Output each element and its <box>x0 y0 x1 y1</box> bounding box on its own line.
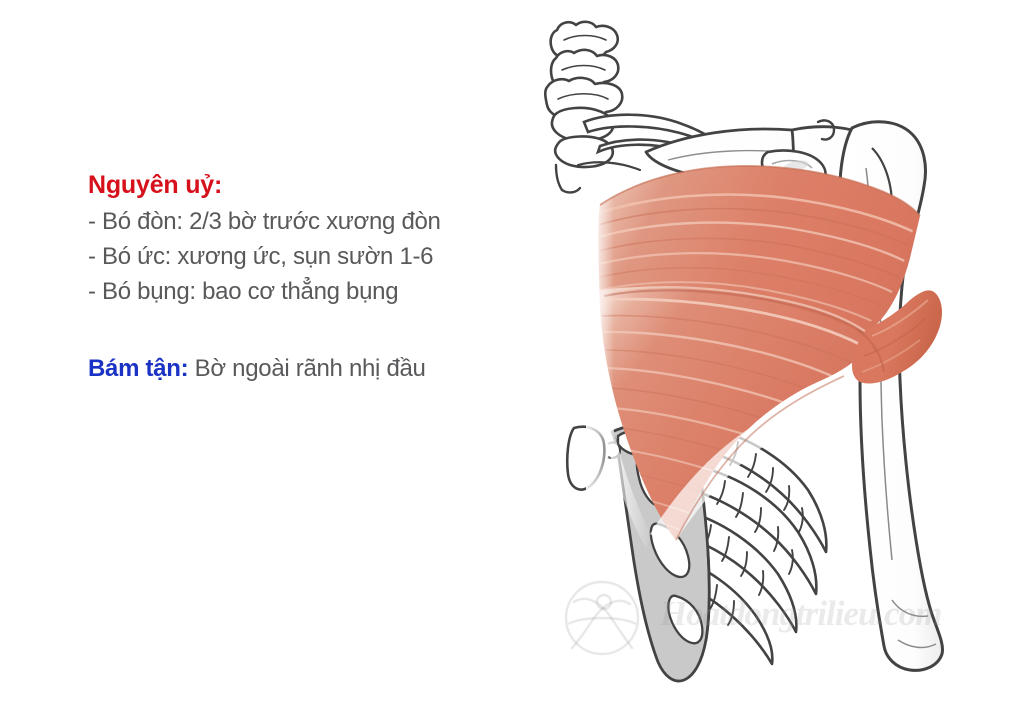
origin-heading: Nguyên uỷ: <box>88 168 518 202</box>
list-item: - Bó ức: xương ức, sụn sườn 1-6 <box>88 239 518 274</box>
cervical-vertebrae <box>545 22 640 193</box>
insertion-heading: Bám tận: <box>88 355 188 382</box>
illustration-page: Nguyên uỷ: - Bó đòn: 2/3 bờ trước xương … <box>0 0 1024 715</box>
insertion-value: Bờ ngoài rãnh nhị đầu <box>195 355 426 382</box>
list-item: - Bó bụng: bao cơ thẳng bụng <box>88 274 518 309</box>
list-item: - Bó đòn: 2/3 bờ trước xương đòn <box>88 204 518 239</box>
annotation-text-panel: Nguyên uỷ: - Bó đòn: 2/3 bờ trước xương … <box>88 168 518 385</box>
anatomy-illustration <box>500 0 1024 715</box>
origin-list: - Bó đòn: 2/3 bờ trước xương đòn - Bó ức… <box>88 204 518 309</box>
insertion-block: Bám tận: Bờ ngoài rãnh nhị đầu <box>88 353 518 385</box>
